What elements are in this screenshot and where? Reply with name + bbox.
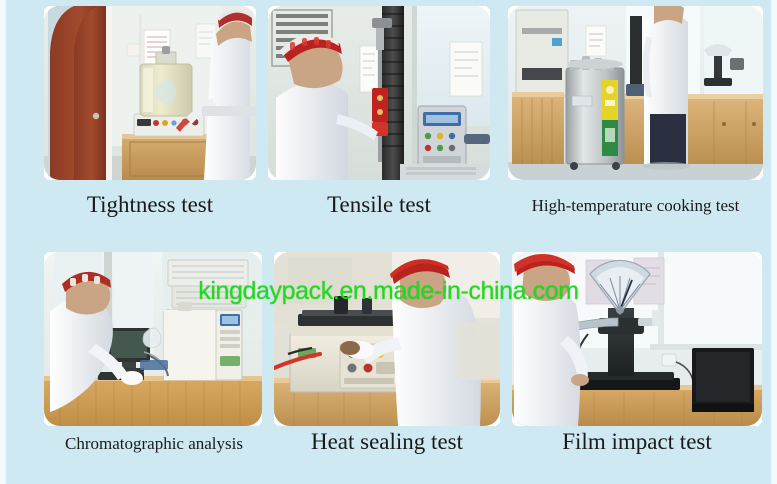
gallery-tile-film-impact-test[interactable] (512, 252, 762, 426)
photo-heat-sealing-test (274, 252, 500, 426)
gallery-tile-chromatographic-analysis[interactable] (44, 252, 262, 426)
photo-tensile-test (268, 6, 490, 180)
caption-high-temperature-cooking-test: High-temperature cooking test (503, 197, 768, 214)
caption-chromatographic-analysis: Chromatographic analysis (34, 435, 274, 452)
gallery-tile-heat-sealing-test[interactable] (274, 252, 500, 426)
photo-chromatographic-analysis (44, 252, 262, 426)
gallery-tile-tightness-test[interactable] (44, 6, 256, 180)
gallery-grid: Tightness test (0, 0, 777, 484)
caption-film-impact-test: Film impact test (512, 430, 762, 453)
gallery-tile-high-temperature-cooking-test[interactable] (508, 6, 763, 180)
gallery-page: Tightness test (0, 0, 777, 484)
caption-tightness-test: Tightness test (44, 193, 256, 216)
gallery-tile-tensile-test[interactable] (268, 6, 490, 180)
caption-heat-sealing-test: Heat sealing test (274, 430, 500, 453)
caption-tensile-test: Tensile test (268, 193, 490, 216)
photo-high-temperature-cooking-test (508, 6, 763, 180)
photo-tightness-test (44, 6, 256, 180)
photo-film-impact-test (512, 252, 762, 426)
